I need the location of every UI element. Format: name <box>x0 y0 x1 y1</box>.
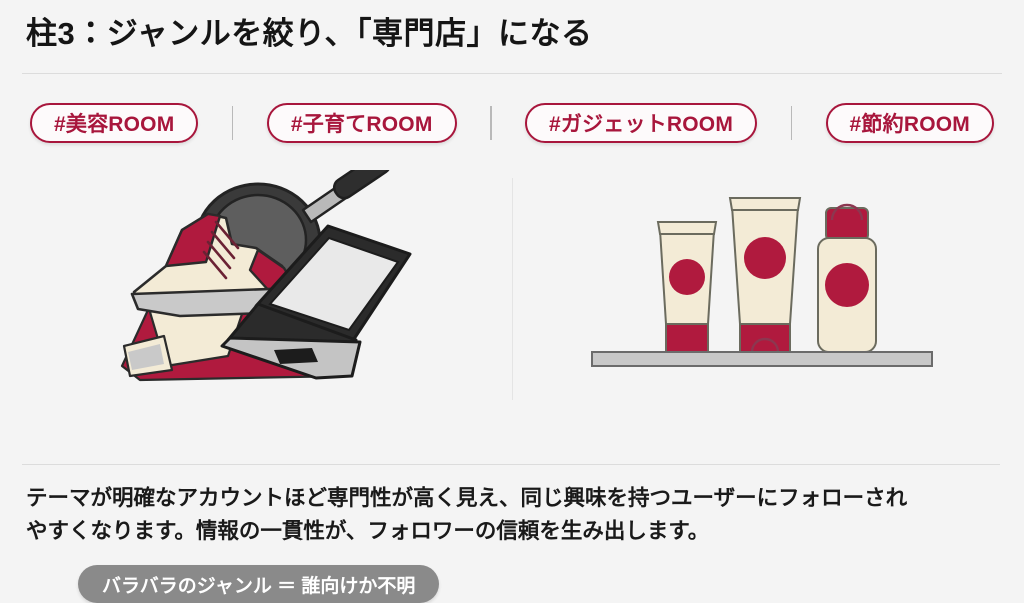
caption-mixed-genre: バラバラのジャンル ＝ 誰向けか不明 <box>78 565 439 603</box>
genre-tag-gadget[interactable]: #ガジェットROOM <box>525 103 757 143</box>
body-line-2: やすくなります。情報の一貫性が、フォロワーの信頼を生み出します。 <box>26 515 1006 548</box>
page-title: 柱3：ジャンルを絞り、「専門店」になる <box>26 8 592 53</box>
panel-mixed-genre: バラバラのジャンル ＝ 誰向けか不明 <box>0 160 512 460</box>
slide-root: 柱3：ジャンルを絞り、「専門店」になる #美容ROOM #子育てROOM #ガジ… <box>0 0 1024 558</box>
cosmetic-tube-small-icon <box>658 222 716 352</box>
tag-separator <box>232 106 234 140</box>
body-text: テーマが明確なアカウントほど専門性が高く見え、同じ興味を持つユーザーにフォローさ… <box>26 482 1006 547</box>
genre-tag-parenting[interactable]: #子育てROOM <box>267 103 457 143</box>
body-line-1: テーマが明確なアカウントほど専門性が高く見え、同じ興味を持つユーザーにフォローさ… <box>26 482 1006 515</box>
shelf-icon <box>592 352 932 366</box>
tag-separator <box>490 106 492 140</box>
genre-tag-saving[interactable]: #節約ROOM <box>826 103 994 143</box>
cosmetics-shelf-illustration <box>582 178 942 378</box>
tag-separator <box>791 106 793 140</box>
title-divider <box>22 73 1002 74</box>
illustration-stage: バラバラのジャンル ＝ 誰向けか不明 <box>0 160 1024 460</box>
mixed-genre-items-illustration <box>120 170 420 385</box>
genre-tag-beauty[interactable]: #美容ROOM <box>30 103 198 143</box>
cosmetic-bottle-icon <box>818 205 876 352</box>
cosmetic-tube-large-icon <box>730 198 800 352</box>
panel-unified-genre: 統一されたジャンル ＝ 高い専門性 <box>512 160 1024 460</box>
body-divider <box>22 464 1000 465</box>
genre-tag-row: #美容ROOM #子育てROOM #ガジェットROOM #節約ROOM <box>30 100 994 146</box>
